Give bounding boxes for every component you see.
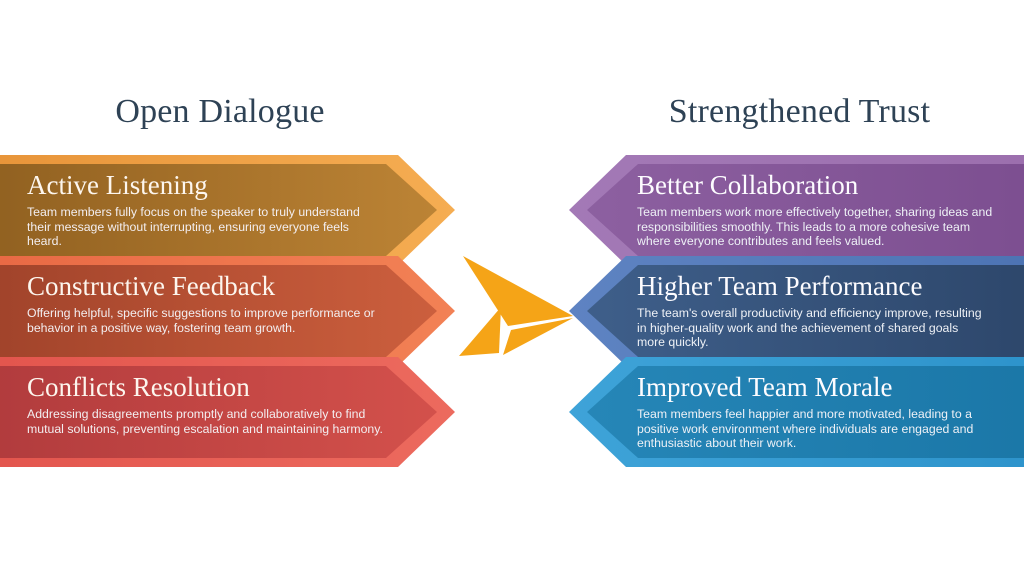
right-chevron-better-collaboration[interactable]: Better Collaboration Team members work m… xyxy=(569,155,1024,265)
right-chevron-improved-team-morale[interactable]: Improved Team Morale Team members feel h… xyxy=(569,357,1024,467)
right-chevron-2-body: The team's overall productivity and effi… xyxy=(637,306,982,350)
left-column-title: Open Dialogue xyxy=(0,93,440,131)
left-chevron-2-body: Offering helpful, specific suggestions t… xyxy=(27,306,402,335)
left-chevron-2-title: Constructive Feedback xyxy=(27,270,275,302)
left-chevron-3-title: Conflicts Resolution xyxy=(27,371,250,403)
right-chevron-1-body: Team members work more effectively toget… xyxy=(637,205,997,249)
right-arrow-paper-plane-icon xyxy=(455,250,580,370)
right-column-title: Strengthened Trust xyxy=(575,93,1024,131)
left-chevron-active-listening[interactable]: Active Listening Team members fully focu… xyxy=(0,155,455,265)
right-chevron-1-title: Better Collaboration xyxy=(637,169,858,201)
right-chevron-2-title: Higher Team Performance xyxy=(637,270,923,302)
left-chevron-3-body: Addressing disagreements promptly and co… xyxy=(27,407,392,436)
right-chevron-higher-team-performance[interactable]: Higher Team Performance The team's overa… xyxy=(569,256,1024,366)
right-chevron-3-title: Improved Team Morale xyxy=(637,371,893,403)
left-chevron-conflicts-resolution[interactable]: Conflicts Resolution Addressing disagree… xyxy=(0,357,455,467)
left-chevron-constructive-feedback[interactable]: Constructive Feedback Offering helpful, … xyxy=(0,256,455,366)
left-chevron-1-body: Team members fully focus on the speaker … xyxy=(27,205,382,249)
center-arrow xyxy=(455,250,580,370)
left-chevron-1-title: Active Listening xyxy=(27,169,208,201)
infographic-canvas: Open Dialogue Strengthened Trust Active … xyxy=(0,0,1024,576)
right-chevron-3-body: Team members feel happier and more motiv… xyxy=(637,407,997,451)
